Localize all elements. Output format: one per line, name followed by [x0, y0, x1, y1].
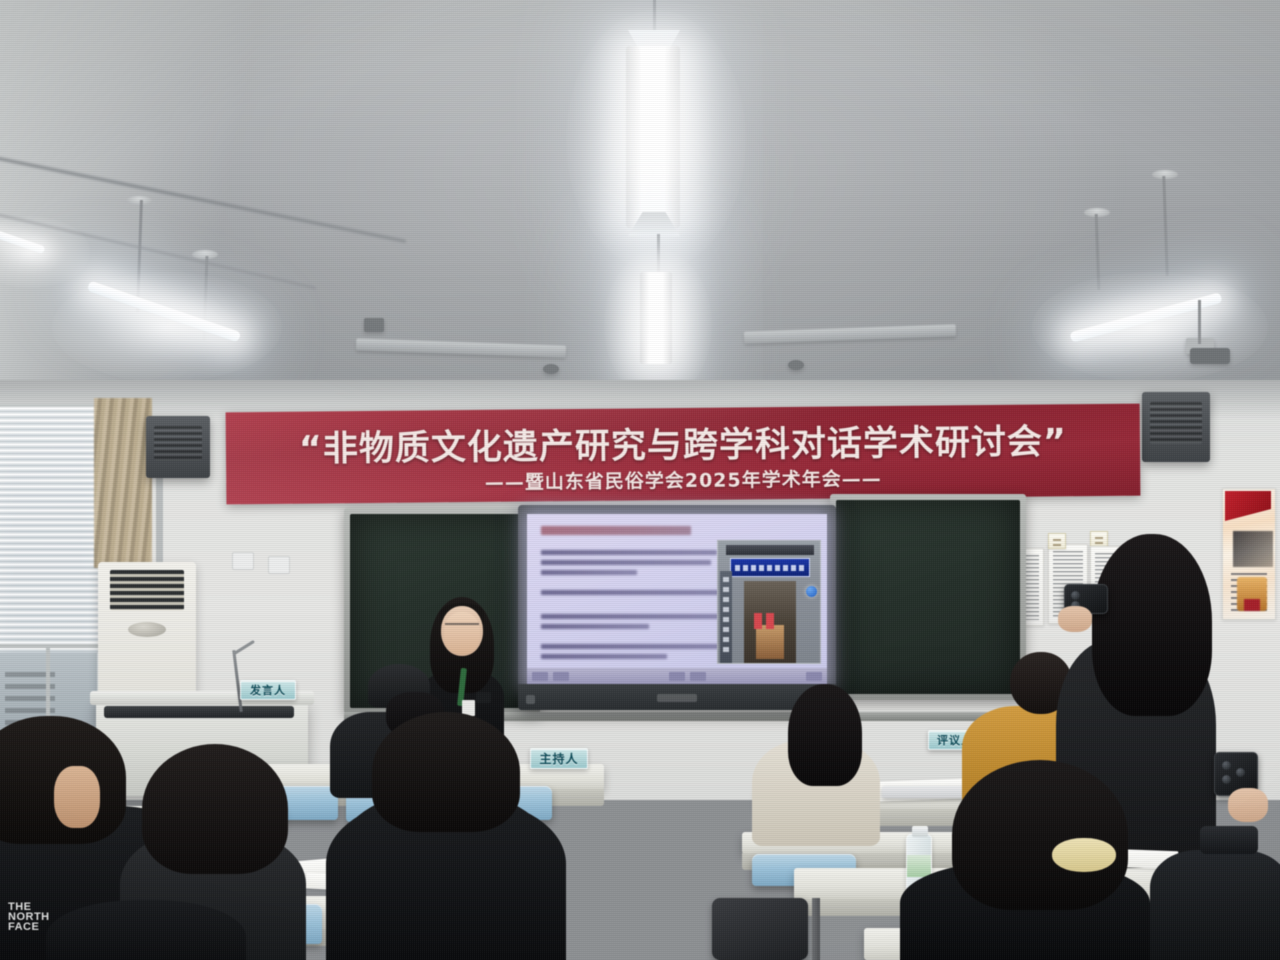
slide-cursor-dot: [806, 586, 817, 597]
attendee-hair: [372, 712, 520, 832]
bottle-label: [907, 855, 931, 877]
nameplate-host: 主持人: [530, 748, 588, 769]
slide-text-line: [541, 654, 667, 659]
presenter-clicker: [476, 692, 491, 703]
slide-text-line: [541, 624, 649, 629]
attendee-torso: [1150, 850, 1280, 960]
podium-control-panel[interactable]: [104, 706, 294, 718]
window-blinds: [0, 407, 99, 653]
toolbar-button[interactable]: [553, 672, 569, 681]
laptop[interactable]: [882, 786, 968, 798]
gate-vertical-banner: [720, 571, 732, 663]
gate-roof: [726, 545, 814, 555]
display-brand-logo: [657, 694, 697, 702]
ceiling-projector: [1190, 348, 1230, 364]
hair-clip: [1052, 838, 1116, 872]
poster-seal-graphic: [1237, 577, 1267, 611]
presenter-glasses: [445, 623, 479, 631]
hand: [1228, 788, 1268, 822]
smart-display[interactable]: [518, 505, 836, 710]
display-toolbar[interactable]: [527, 668, 827, 684]
north-face-logo: THENORTHFACE: [8, 902, 50, 932]
slide-text-line: [541, 560, 711, 565]
ceiling-sensor: [788, 360, 804, 370]
wall-outlet[interactable]: [268, 556, 290, 574]
ceiling-lamp-center-lower: [640, 272, 672, 364]
attendee-hair: [788, 684, 862, 786]
slide-photo-museum-gate: [717, 540, 821, 664]
slide-text-line: [541, 590, 727, 595]
jacket-cuff: [1200, 826, 1258, 854]
phone-camera-lens: [1071, 591, 1080, 600]
poster-calligraphy: [1233, 531, 1273, 567]
slide-text-line: [541, 550, 717, 555]
nameplate-speaker: 发言人: [240, 680, 296, 700]
attendee-head-back: [46, 900, 246, 960]
lamp-rod: [653, 0, 656, 34]
gate-plaque: [730, 558, 810, 577]
wall-certificate: [1048, 533, 1066, 549]
wall-cable-bundle: [94, 398, 152, 568]
toolbar-button[interactable]: [669, 672, 685, 681]
nameplate-label: 主持人: [539, 750, 578, 767]
wall-outlet[interactable]: [232, 552, 254, 570]
slide-heading: [541, 526, 691, 535]
wall-conduit: [156, 462, 163, 572]
backpack: [712, 898, 808, 960]
toolbar-button[interactable]: [690, 672, 706, 681]
ceiling-lamp-center-upper: [626, 46, 680, 228]
bottle-cap: [912, 826, 928, 837]
display-screen[interactable]: [527, 514, 827, 684]
poster-flag-graphic: [1225, 491, 1271, 521]
photographer-hand: [1058, 606, 1092, 632]
nameplate-label: 发言人: [250, 682, 286, 698]
slide-text-line: [541, 644, 723, 649]
display-bezel-bottom: [518, 684, 836, 710]
desk-leg: [812, 898, 820, 960]
slide-text-line: [541, 614, 719, 619]
attendee-hair: [142, 744, 288, 874]
ceiling-projector-mount: [364, 318, 384, 332]
wall-speaker-right: [1142, 392, 1210, 462]
toolbar-spacer: [574, 672, 664, 681]
lamp-rod: [657, 234, 660, 276]
projector-rod: [1198, 300, 1201, 344]
toolbar-spacer: [711, 672, 801, 681]
toolbar-button[interactable]: [806, 672, 822, 681]
classroom-photo: “非物质文化遗产研究与跨学科对话学术研讨会” ——暨山东省民俗学会2025年学术…: [0, 0, 1280, 960]
heater-grille: [110, 570, 184, 610]
conference-banner: “非物质文化遗产研究与跨学科对话学术研讨会” ——暨山东省民俗学会2025年学术…: [226, 404, 1141, 505]
attendee-hair: [952, 760, 1128, 910]
blackboard-right: [830, 494, 1026, 700]
phone-camera-lens: [1222, 775, 1231, 784]
slide-text-line: [541, 570, 637, 575]
wall-speaker-left: [146, 416, 210, 478]
photographer-hair: [1092, 534, 1212, 716]
phone-camera-lens: [1222, 761, 1231, 770]
gate-lantern: [754, 613, 762, 629]
display-power-button[interactable]: [526, 695, 535, 704]
toolbar-button[interactable]: [532, 672, 548, 681]
attendee-ear-cheek: [54, 766, 100, 828]
heater-knob[interactable]: [128, 622, 166, 637]
gate-lantern: [766, 613, 774, 629]
phone-camera-lens: [1236, 768, 1245, 777]
wall-poster-color: [1222, 488, 1276, 620]
wall-certificate: [1090, 531, 1108, 547]
ceiling-sensor: [543, 364, 559, 374]
presenter-face: [444, 612, 480, 654]
blackboard-surface: [836, 500, 1020, 694]
